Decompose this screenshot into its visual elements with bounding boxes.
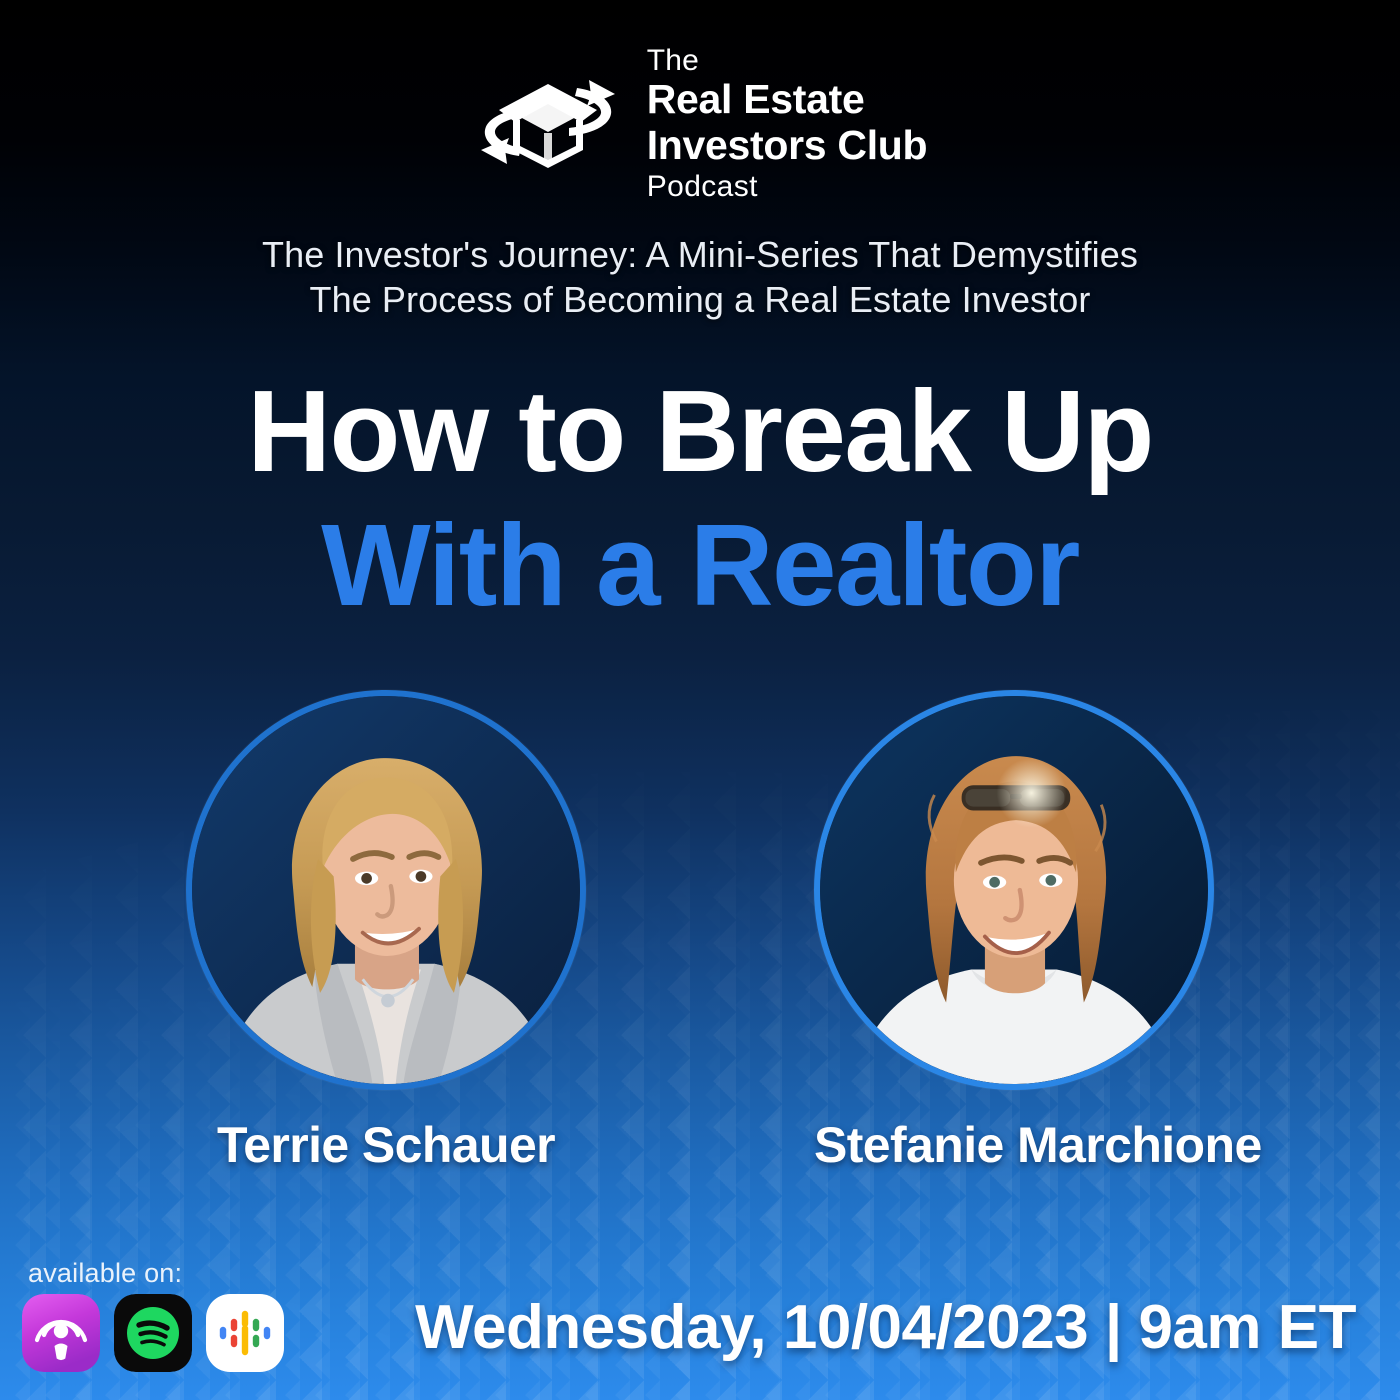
guest-list: Terrie Schauer (0, 690, 1400, 1174)
brand-logo: The Real Estate Investors Club Podcast (0, 46, 1400, 202)
guest-card: Stefanie Marchione (814, 690, 1214, 1174)
podcast-episode-poster: The Real Estate Investors Club Podcast T… (0, 0, 1400, 1400)
episode-title: How to Break Up With a Realtor (0, 372, 1400, 625)
spotify-icon[interactable] (114, 1294, 192, 1372)
guest-name: Terrie Schauer (186, 1116, 586, 1174)
brand-line-podcast: Podcast (647, 172, 928, 202)
google-podcasts-icon[interactable] (206, 1294, 284, 1372)
brand-line-two: Investors Club (647, 125, 928, 166)
episode-title-line-1: How to Break Up (0, 372, 1400, 490)
avatar (186, 690, 586, 1090)
guest-card: Terrie Schauer (186, 690, 586, 1174)
headshot-stefanie-marchione (820, 696, 1208, 1084)
brand-line-the: The (647, 44, 699, 77)
apple-podcasts-icon[interactable] (22, 1294, 100, 1372)
airdate-text: Wednesday, 10/04/2023 | 9am ET (415, 1292, 1356, 1363)
series-subtitle: The Investor's Journey: A Mini-Series Th… (0, 232, 1400, 323)
episode-title-line-2: With a Realtor (0, 506, 1400, 624)
avatar (814, 690, 1214, 1090)
series-subtitle-line-1: The Investor's Journey: A Mini-Series Th… (120, 232, 1280, 277)
brand-line-one: Real Estate (647, 79, 928, 120)
guest-name: Stefanie Marchione (814, 1116, 1214, 1174)
house-orbit-icon (473, 64, 623, 184)
brand-wordmark: The Real Estate Investors Club Podcast (647, 46, 928, 202)
series-subtitle-line-2: The Process of Becoming a Real Estate In… (120, 277, 1280, 322)
platform-badges (22, 1294, 284, 1372)
available-on-label: available on: (28, 1258, 182, 1289)
headshot-terrie-schauer (192, 696, 580, 1084)
